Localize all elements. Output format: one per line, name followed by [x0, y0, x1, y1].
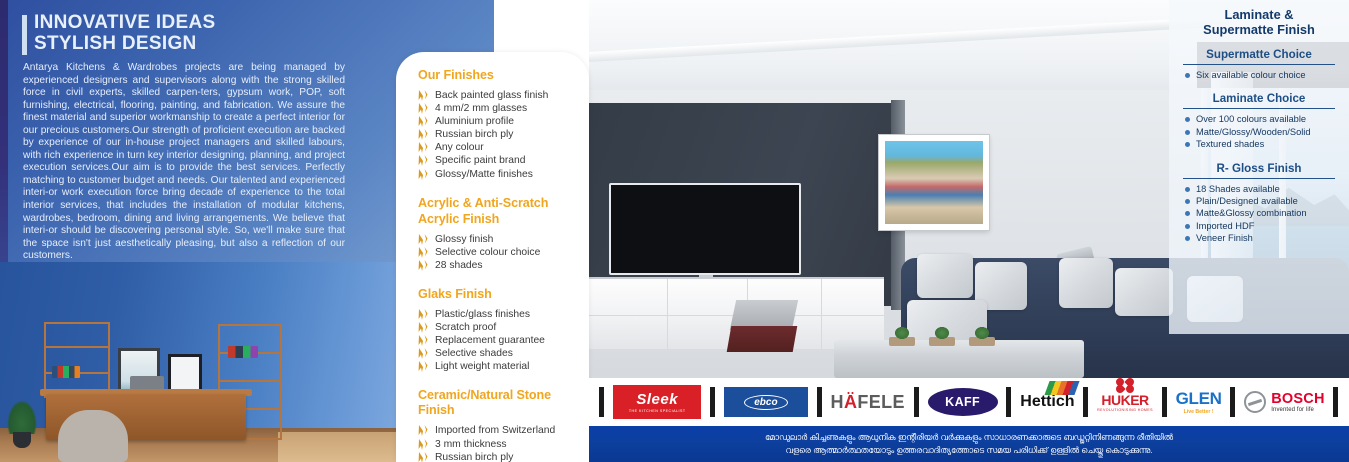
logo-separator — [817, 387, 822, 417]
bosch-logo-text: BOSCH Invented for life — [1271, 391, 1324, 413]
logo-bosch: BOSCH Invented for life — [1244, 391, 1324, 413]
logo-separator — [599, 387, 604, 417]
list-item: 4 mm/2 mm glasses — [418, 102, 577, 115]
list-item: Veneer Finish — [1185, 232, 1341, 244]
huker-flower-icon — [1116, 378, 1134, 393]
list-item: Plastic/glass finishes — [418, 308, 577, 321]
logo-glen: GLEN Live Better ! — [1176, 389, 1222, 415]
list-item: Six available colour choice — [1185, 69, 1341, 81]
arrow-bullet-icon — [418, 169, 428, 180]
list-item: Russian birch ply — [418, 451, 577, 462]
list-item-label: Back painted glass finish — [435, 90, 548, 101]
list-item-label: Six available colour choice — [1196, 70, 1306, 80]
logo-hettich: Hettich — [1020, 393, 1074, 411]
cushion-4 — [1115, 268, 1173, 316]
arrow-bullet-icon — [418, 335, 428, 346]
list-item: Plain/Designed available — [1185, 195, 1341, 207]
list-item: Replacement guarantee — [418, 334, 577, 347]
acrylic-heading-line-1: Acrylic & Anti-Scratch — [418, 196, 577, 211]
list-item-label: 4 mm/2 mm glasses — [435, 103, 527, 114]
malayalam-tagline-line-2: വളരെ ആത്മാർത്ഥതയോടും ഉത്തരവാദിത്യത്തോടെ … — [785, 444, 1152, 457]
list-item: Imported HDF — [1185, 220, 1341, 232]
logo-hafele: HÄFELE — [831, 392, 905, 413]
books-cluster-b — [228, 346, 258, 358]
list-item: Imported from Switzerland — [418, 424, 577, 437]
office-interior-photo — [0, 262, 400, 462]
list-item-label: Veneer Finish — [1196, 233, 1253, 243]
list-item: Selective shades — [418, 347, 577, 360]
list-item-label: Over 100 colours available — [1196, 114, 1306, 124]
arrow-bullet-icon — [418, 234, 428, 245]
heading-rule — [1183, 178, 1335, 179]
malayalam-tagline-line-1: മോഡുലാർ കിച്ചണുകളും ആധുനിക ഇന്റീരിയർ വർക… — [765, 431, 1173, 444]
arrow-bullet-icon — [418, 322, 428, 333]
sleek-logo-word: Sleek — [636, 392, 678, 407]
plant-leaves — [7, 400, 37, 434]
list-item-label: 18 Shades available — [1196, 184, 1280, 194]
finishes-card: Our Finishes Back painted glass finish 4… — [396, 52, 589, 462]
logo-separator — [1230, 387, 1235, 417]
list-item: Specific paint brand — [418, 154, 577, 167]
list-item-label: Aluminium profile — [435, 116, 514, 127]
list-item: Glossy/Matte finishes — [418, 168, 577, 181]
bosch-armature-icon — [1244, 391, 1266, 413]
list-item: Scratch proof — [418, 321, 577, 334]
list-item: Selective colour choice — [418, 246, 577, 259]
logo-sleek: Sleek THE KITCHEN SPECIALIST — [613, 385, 701, 419]
list-item: Back painted glass finish — [418, 89, 577, 102]
bullet-dot-icon — [1185, 73, 1190, 78]
list-item: Any colour — [418, 141, 577, 154]
plant-pot — [13, 432, 31, 448]
list-item: Glossy finish — [418, 233, 577, 246]
office-chair — [58, 410, 128, 462]
hafele-logo-word-end: FELE — [857, 392, 905, 412]
list-item-label: Replacement guarantee — [435, 335, 545, 346]
logo-huker: HUKER REVOLUTIONISING HOMES — [1097, 392, 1153, 412]
bullet-dot-icon — [1185, 224, 1190, 229]
glaks-finish-heading: Glaks Finish — [418, 287, 577, 302]
sleek-logo-mark: Sleek THE KITCHEN SPECIALIST — [613, 385, 701, 419]
glaks-finish-list: Plastic/glass finishes Scratch proof Rep… — [418, 308, 577, 373]
list-item-label: Plastic/glass finishes — [435, 309, 530, 320]
painting-artwork — [885, 141, 983, 224]
list-item: Matte/Glossy/Wooden/Solid — [1185, 126, 1341, 138]
laminate-choice-heading: Laminate Choice — [1177, 92, 1341, 107]
arrow-bullet-icon — [418, 348, 428, 359]
glen-logo-word: GLEN — [1176, 389, 1222, 409]
list-item: Textured shades — [1185, 138, 1341, 150]
arrow-bullet-icon — [418, 452, 428, 462]
arrow-bullet-icon — [418, 260, 428, 271]
bosch-logo-word: BOSCH — [1271, 391, 1324, 407]
r-gloss-finish-list: 18 Shades available Plain/Designed avail… — [1177, 183, 1341, 245]
supermatte-choice-section: Supermatte Choice Six available colour c… — [1177, 48, 1341, 81]
list-item: Light weight material — [418, 360, 577, 373]
list-item: Aluminium profile — [418, 115, 577, 128]
arrow-bullet-icon — [418, 309, 428, 320]
table-plant-tray — [889, 326, 1039, 346]
arrow-bullet-icon — [418, 142, 428, 153]
ebco-logo-word: ebco — [744, 395, 787, 410]
supermatte-choice-heading: Supermatte Choice — [1177, 48, 1341, 63]
magazine-rack-body — [727, 326, 798, 352]
our-finishes-heading: Our Finishes — [418, 68, 577, 83]
huker-logo-word: HUKER — [1097, 392, 1153, 408]
magazine-rack — [729, 300, 799, 352]
partner-logo-strip: Sleek THE KITCHEN SPECIALIST ebco HÄFELE… — [589, 378, 1349, 426]
list-item-label: Matte&Glossy combination — [1196, 208, 1307, 218]
list-item-label: Matte/Glossy/Wooden/Solid — [1196, 127, 1311, 137]
logo-separator — [1006, 387, 1011, 417]
heading-rule — [1183, 64, 1335, 65]
bullet-dot-icon — [1185, 130, 1190, 135]
framed-painting — [879, 135, 989, 230]
hafele-logo-mark: HÄFELE — [831, 392, 905, 413]
kaff-logo-mark: KAFF — [928, 388, 998, 416]
list-item-label: Imported HDF — [1196, 221, 1254, 231]
hafele-logo-word-start: H — [831, 392, 844, 412]
list-item-label: Scratch proof — [435, 322, 496, 333]
ebco-logo-mark: ebco — [724, 387, 808, 417]
logo-separator — [1162, 387, 1167, 417]
acrylic-finish-list: Glossy finish Selective colour choice 28… — [418, 233, 577, 272]
headline-line-1: INNOVATIVE IDEAS — [34, 12, 215, 33]
bookshelf-left — [44, 322, 110, 398]
arrow-bullet-icon — [418, 155, 428, 166]
arrow-bullet-icon — [418, 103, 428, 114]
bullet-dot-icon — [1185, 142, 1190, 147]
arrow-bullet-icon — [418, 425, 428, 436]
list-item-label: 3 mm thickness — [435, 439, 507, 450]
list-item-label: 28 shades — [435, 260, 483, 271]
logo-separator — [710, 387, 715, 417]
list-item-label: Russian birch ply — [435, 129, 513, 140]
bullet-dot-icon — [1185, 236, 1190, 241]
logo-separator — [1333, 387, 1338, 417]
right-panel-title: Laminate & Supermatte Finish — [1177, 7, 1341, 37]
r-gloss-finish-section: R- Gloss Finish 18 Shades available Plai… — [1177, 162, 1341, 245]
bullet-dot-icon — [1185, 199, 1190, 204]
ceramic-stone-finish-heading: Ceramic/Natural Stone Finish — [418, 388, 577, 418]
list-item-label: Plain/Designed available — [1196, 196, 1298, 206]
bullet-dot-icon — [1185, 117, 1190, 122]
ceramic-stone-finish-list: Imported from Switzerland 3 mm thickness… — [418, 424, 577, 462]
arrow-bullet-icon — [418, 247, 428, 258]
list-item-label: Specific paint brand — [435, 155, 525, 166]
laminate-choice-list: Over 100 colours available Matte/Glossy/… — [1177, 113, 1341, 150]
our-finishes-list: Back painted glass finish 4 mm/2 mm glas… — [418, 89, 577, 181]
list-item-label: Light weight material — [435, 361, 529, 372]
logo-separator — [1083, 387, 1088, 417]
headline-line-2: STYLISH DESIGN — [34, 33, 197, 54]
acrylic-heading-line-2: Acrylic Finish — [418, 212, 577, 227]
list-item-label: Imported from Switzerland — [435, 425, 555, 436]
hafele-logo-accent: Ä — [844, 392, 857, 412]
photo-floor-light — [278, 432, 400, 462]
intro-paragraph: Antarya Kitchens & Wardrobes projects ar… — [23, 62, 345, 263]
arrow-bullet-icon — [418, 129, 428, 140]
arrow-bullet-icon — [418, 116, 428, 127]
list-item-label: Selective colour choice — [435, 247, 540, 258]
list-item: Russian birch ply — [418, 128, 577, 141]
list-item: 3 mm thickness — [418, 438, 577, 451]
list-item: Matte&Glossy combination — [1185, 207, 1341, 219]
arrow-bullet-icon — [418, 439, 428, 450]
hettich-rainbow-icon — [1044, 381, 1079, 395]
cushion-3 — [1059, 258, 1113, 308]
logo-kaff: KAFF — [928, 388, 998, 416]
list-item: 18 Shades available — [1185, 183, 1341, 195]
headline-block: INNOVATIVE IDEAS STYLISH DESIGN — [22, 12, 215, 54]
glen-logo-tagline: Live Better ! — [1176, 409, 1222, 415]
malayalam-tagline-bar: മോഡുലാർ കിച്ചണുകളും ആധുനിക ഇന്റീരിയർ വർക… — [589, 426, 1349, 462]
kaff-logo-word: KAFF — [945, 395, 980, 409]
right-panel-title-line-1: Laminate & — [1225, 7, 1294, 22]
headline-accent-bar — [22, 15, 27, 55]
laminate-finish-panel: Laminate & Supermatte Finish Supermatte … — [1169, 0, 1349, 334]
page-title: INNOVATIVE IDEAS STYLISH DESIGN — [34, 12, 215, 54]
list-item-label: Glossy/Matte finishes — [435, 169, 533, 180]
bosch-logo-mark: BOSCH Invented for life — [1244, 391, 1324, 413]
laminate-choice-section: Laminate Choice Over 100 colours availab… — [1177, 92, 1341, 150]
hettich-logo-word: Hettich — [1020, 393, 1074, 411]
list-item: 28 shades — [418, 259, 577, 272]
potted-plant — [5, 396, 39, 448]
list-item-label: Russian birch ply — [435, 452, 513, 462]
logo-ebco: ebco — [724, 387, 808, 417]
list-item: Over 100 colours available — [1185, 113, 1341, 125]
sleek-logo-tagline: THE KITCHEN SPECIALIST — [629, 409, 686, 413]
r-gloss-finish-heading: R- Gloss Finish — [1177, 162, 1341, 177]
huker-logo-tagline: REVOLUTIONISING HOMES — [1097, 408, 1153, 412]
bullet-dot-icon — [1185, 211, 1190, 216]
heading-rule — [1183, 108, 1335, 109]
supermatte-choice-list: Six available colour choice — [1177, 69, 1341, 81]
list-item-label: Glossy finish — [435, 234, 493, 245]
glen-logo-mark: GLEN Live Better ! — [1176, 389, 1222, 415]
logo-separator — [914, 387, 919, 417]
brochure-page: INNOVATIVE IDEAS STYLISH DESIGN Antarya … — [0, 0, 1349, 462]
bullet-dot-icon — [1185, 187, 1190, 192]
list-item-label: Textured shades — [1196, 139, 1264, 149]
books-cluster-a — [52, 366, 80, 378]
huker-logo-mark: HUKER REVOLUTIONISING HOMES — [1097, 392, 1153, 412]
bosch-logo-tagline: Invented for life — [1271, 407, 1324, 413]
arrow-bullet-icon — [418, 361, 428, 372]
arrow-bullet-icon — [418, 90, 428, 101]
television — [609, 183, 801, 275]
list-item-label: Selective shades — [435, 348, 513, 359]
hettich-logo-mark: Hettich — [1020, 393, 1074, 411]
right-panel-title-line-2: Supermatte Finish — [1203, 22, 1315, 37]
cushion-1 — [917, 254, 973, 298]
list-item-label: Any colour — [435, 142, 484, 153]
